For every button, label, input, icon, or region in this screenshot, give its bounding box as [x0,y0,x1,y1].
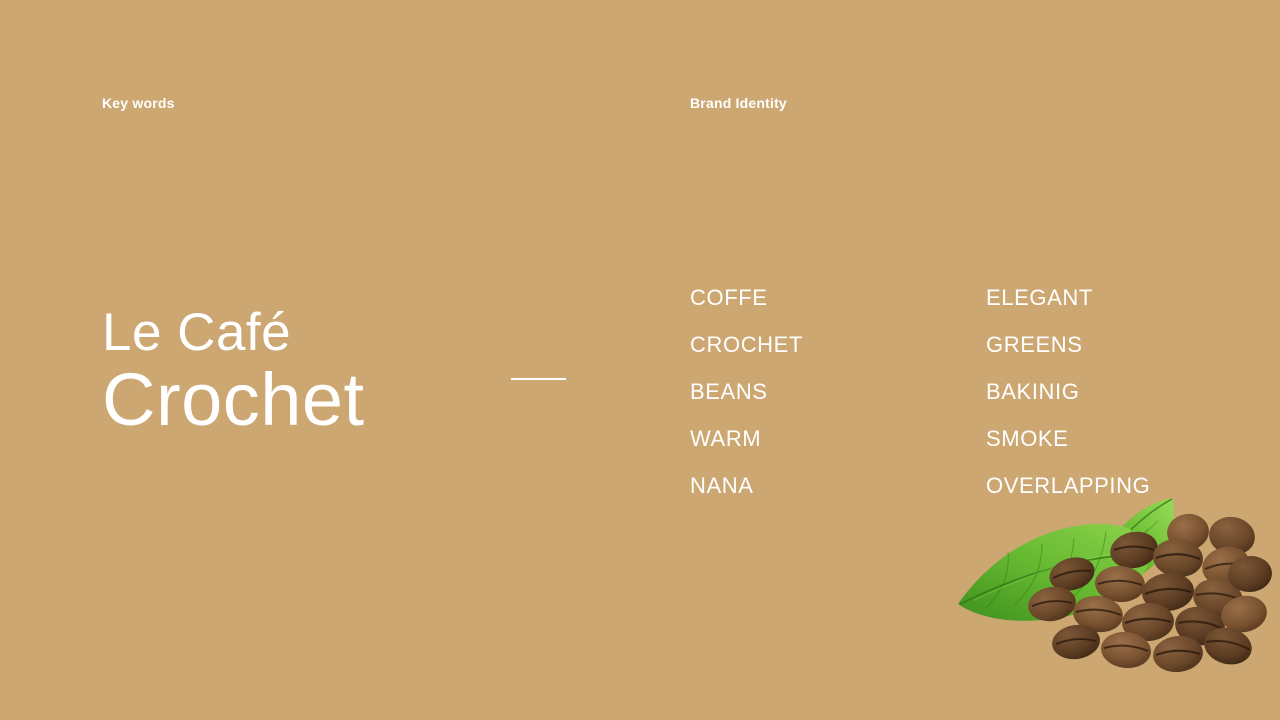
brand-identity-slide: Key words Brand Identity Le Café Crochet… [0,0,1280,720]
keyword-item: BEANS [690,368,803,415]
keyword-item: COFFE [690,274,803,321]
keyword-item: SMOKE [986,415,1150,462]
keyword-column-one: COFFE CROCHET BEANS WARM NANA [690,274,803,509]
keyword-item: CROCHET [690,321,803,368]
keyword-column-two: ELEGANT GREENS BAKINIG SMOKE OVERLAPPING [986,274,1150,509]
keyword-item: NANA [690,462,803,509]
section-label-brand-identity: Brand Identity [690,95,787,111]
coffee-beans-and-leaves-image [944,496,1274,672]
page-title-line-1: Le Café [102,303,365,363]
keyword-item: WARM [690,415,803,462]
horizontal-divider [511,378,566,380]
page-title: Le Café Crochet [102,303,365,441]
keyword-item: BAKINIG [986,368,1150,415]
keyword-item: ELEGANT [986,274,1150,321]
section-label-key-words: Key words [102,95,175,111]
page-title-line-2: Crochet [102,359,365,441]
keyword-item: GREENS [986,321,1150,368]
